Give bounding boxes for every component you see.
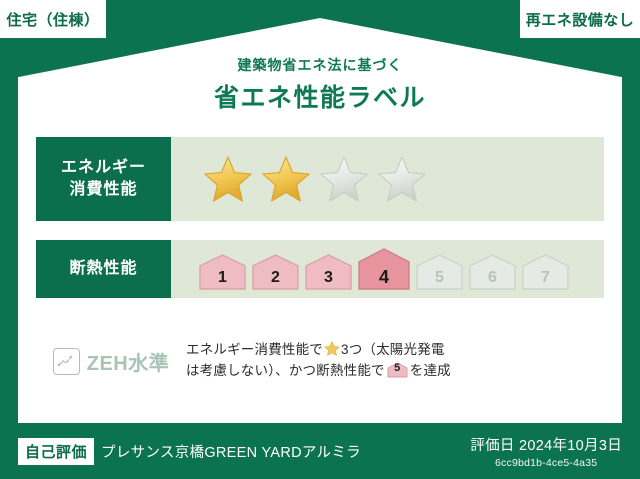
star-rating [203,155,427,203]
insulation-grade-1: 1 [199,254,246,290]
star-icon-empty [377,155,427,203]
insulation-grade-number: 6 [469,270,516,286]
insulation-grade-3: 3 [305,254,352,290]
insulation-grade-number: 4 [358,268,410,286]
insulation-grade-5: 5 [416,254,463,290]
title-main: 省エネ性能ラベル [18,78,622,114]
zeh-mark: ZEH水準 [36,347,186,376]
insulation-grade-number: 1 [199,270,246,286]
insulation-grade-7: 7 [522,254,569,290]
row-insulation-label-line1: 断熱性能 [69,258,137,280]
star-icon [324,341,340,356]
insulation-grade-number: 3 [305,270,352,286]
row-energy-label-line1: エネルギー [61,157,146,179]
building-name: プレサンス京橋GREEN YARDアルミラ [101,441,361,462]
row-insulation-label: 断熱性能 [36,240,171,298]
zeh-desc-part1: エネルギー消費性能で [186,342,323,357]
title-subtitle: 建築物省エネ法に基づく [18,55,622,75]
star-icon-filled [261,155,311,203]
row-energy-performance: エネルギー 消費性能 [36,137,604,221]
zeh-label: ZEH水準 [87,347,170,376]
footer-bar: 自己評価 プレサンス京橋GREEN YARDアルミラ 評価日 2024年10月3… [0,423,640,479]
zeh-desc-part3: は考慮しない）、かつ断熱性能で [186,363,385,378]
badge-renewable-energy-label: 再エネ設備なし [526,9,635,30]
badge-building-type-label: 住宅（住棟） [6,9,99,30]
insulation-grade-number: 5 [416,270,463,286]
zeh-desc-part4: を達成 [410,363,451,378]
row-insulation-value: 1234567 [171,240,604,298]
zeh-desc-part2: 3つ（太陽光発電 [341,342,445,357]
insulation-grade-number: 2 [252,270,299,286]
badge-renewable-energy: 再エネ設備なし [520,0,640,38]
row-energy-label-line2: 消費性能 [69,179,137,201]
insulation-grade-2: 2 [252,254,299,290]
footer-right: 評価日 2024年10月3日 6cc9bd1b-4ce5-4a35 [470,434,622,469]
zeh-chart-icon [53,348,80,375]
insulation-grade-scale: 1234567 [199,248,569,290]
insulation-grade-number: 7 [522,270,569,286]
label-root: 住宅（住棟） 再エネ設備なし 建築物省エネ法に基づく 省エネ性能ラベル エネルギ… [0,0,640,479]
insulation-grade-4: 4 [358,248,410,290]
page-title: 建築物省エネ法に基づく 省エネ性能ラベル [18,55,622,114]
zeh-standard-row: ZEH水準 エネルギー消費性能で3つ（太陽光発電は考慮しない）、かつ断熱性能で5… [36,330,604,392]
badge-building-type: 住宅（住棟） [0,0,106,38]
inline-grade-number: 5 [387,362,408,378]
footer-left: 自己評価 プレサンス京橋GREEN YARDアルミラ [18,438,361,465]
row-insulation-performance: 断熱性能 1234567 [36,240,604,298]
row-energy-label: エネルギー 消費性能 [36,137,171,221]
zeh-description: エネルギー消費性能で3つ（太陽光発電は考慮しない）、かつ断熱性能で5を達成 [186,340,451,382]
evaluation-date: 評価日 2024年10月3日 [470,434,622,455]
row-energy-value [171,137,604,221]
star-icon-filled [203,155,253,203]
star-icon-empty [319,155,369,203]
evaluation-id: 6cc9bd1b-4ce5-4a35 [470,457,622,469]
self-evaluation-badge: 自己評価 [18,438,94,465]
inline-grade-badge: 5 [387,362,408,378]
insulation-grade-6: 6 [469,254,516,290]
